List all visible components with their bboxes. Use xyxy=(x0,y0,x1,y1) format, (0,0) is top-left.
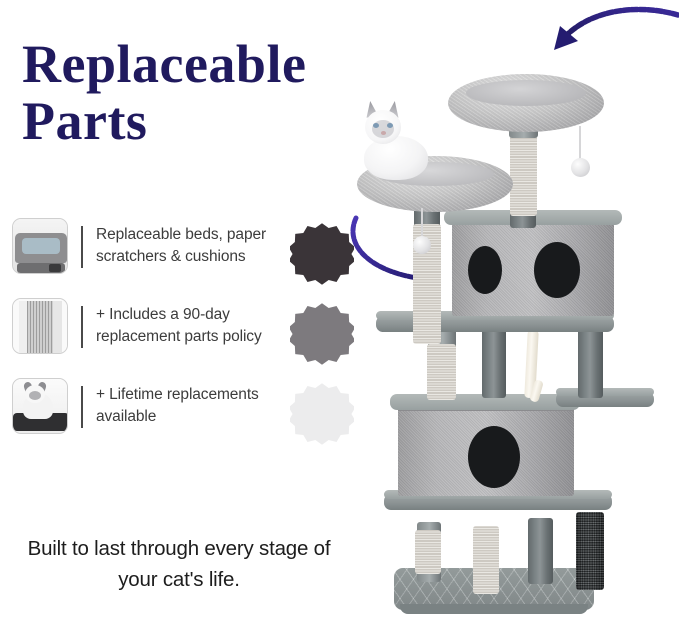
mid-center-post xyxy=(482,328,506,398)
cat-nose xyxy=(381,131,386,135)
lower-condo-opening xyxy=(468,426,520,488)
feature-text: + Includes a 90-day replacement parts po… xyxy=(96,304,291,348)
feature-divider xyxy=(81,306,83,348)
thumbnail-cat-on-perch xyxy=(12,378,68,434)
top-pom-string xyxy=(579,126,581,162)
marketing-image-canvas: Replaceable Parts Replaceable beds, pape… xyxy=(0,0,679,626)
base-shadow xyxy=(400,604,588,614)
tagline: Built to last through every stage of you… xyxy=(14,534,344,596)
feature-divider xyxy=(81,226,83,268)
side-perch-support-post xyxy=(578,328,603,398)
feature-item-lifetime-replacements: + Lifetime replacements available xyxy=(8,374,353,454)
base-sisal-post-left xyxy=(415,530,441,574)
feature-text: + Lifetime replacements available xyxy=(96,384,291,428)
top-pom-pom-toy xyxy=(571,158,590,177)
upper-condo-opening-left xyxy=(468,246,502,294)
feature-item-replaceable-beds: Replaceable beds, paper scratchers & cus… xyxy=(8,214,353,294)
upper-condo-opening-right xyxy=(534,242,580,298)
bristle-grooming-post xyxy=(576,512,604,590)
side-perch-surface xyxy=(556,388,654,396)
feature-text: Replaceable beds, paper scratchers & cus… xyxy=(96,224,291,268)
feature-item-90-day-policy: + Includes a 90-day replacement parts po… xyxy=(8,294,353,374)
top-sisal-post xyxy=(510,128,537,216)
cat-tree-product-photo xyxy=(340,28,679,626)
cat-eye-left xyxy=(373,123,379,128)
mid-sisal-post-left xyxy=(427,344,456,400)
top-plush-bed-inner xyxy=(466,80,586,106)
thumbnail-paper-scratcher xyxy=(12,298,68,354)
feature-divider xyxy=(81,386,83,428)
second-pom-pom-toy xyxy=(413,236,431,254)
page-title: Replaceable Parts xyxy=(22,36,372,150)
feature-list: Replaceable beds, paper scratchers & cus… xyxy=(8,214,353,454)
thumbnail-cat-bed xyxy=(12,218,68,274)
base-sisal-post-mid xyxy=(473,526,499,594)
cat-eye-right xyxy=(387,123,393,128)
ragdoll-cat-body xyxy=(364,136,428,180)
base-post-center xyxy=(528,518,553,584)
